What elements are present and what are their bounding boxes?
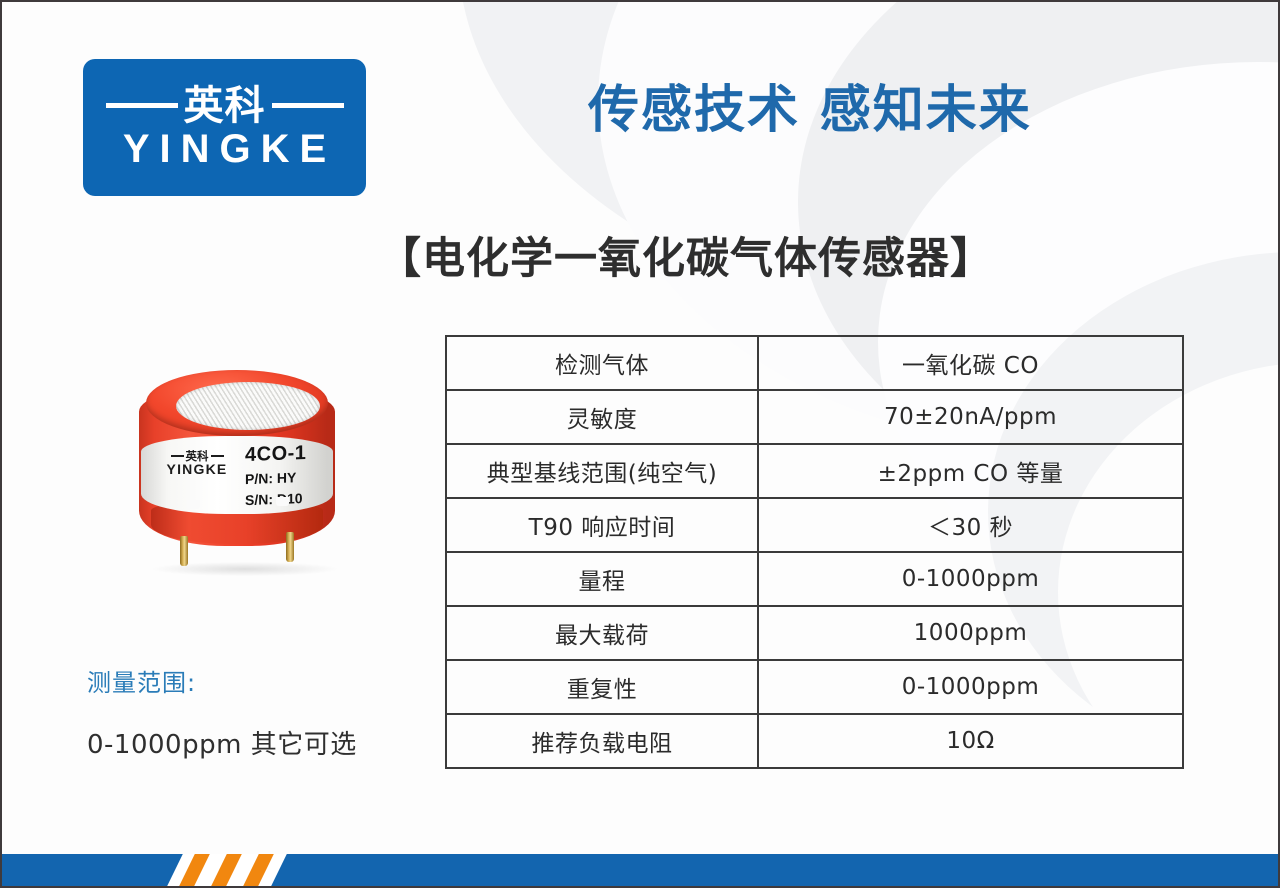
logo-chinese-row: 英科 xyxy=(83,86,366,126)
logo-dash-right xyxy=(272,103,344,108)
spec-param: 典型基线范围(纯空气) xyxy=(446,444,758,498)
spec-value: 70±20nA/ppm xyxy=(758,390,1183,444)
footer-stripe-3 xyxy=(240,854,275,886)
logo-chinese-name: 英科 xyxy=(184,86,266,126)
sensor-label-part-number: P/N: HY xyxy=(245,469,306,487)
logo-dash-left xyxy=(106,103,178,108)
footer-stripe-2 xyxy=(208,854,243,886)
sensor-base-notch-2 xyxy=(276,497,289,506)
measurement-range-label: 测量范围: xyxy=(87,663,427,698)
table-row: T90 响应时间 ＜30 秒 xyxy=(446,498,1183,552)
spec-value: 0-1000ppm xyxy=(758,660,1183,714)
table-row: 典型基线范围(纯空气) ±2ppm CO 等量 xyxy=(446,444,1183,498)
table-row: 最大载荷 1000ppm xyxy=(446,606,1183,660)
footer-bar xyxy=(2,854,1278,886)
measurement-range-block: 测量范围: 0-1000ppm 其它可选 xyxy=(87,663,427,761)
logo-english-name: YINGKE xyxy=(113,128,336,170)
table-row: 推荐负载电阻 10Ω xyxy=(446,714,1183,768)
sensor-label-brand-en: YINGKE xyxy=(154,462,240,477)
sensor-label-band: 英科 YINGKE 4CO-1 P/N: HY S/N: D10 xyxy=(141,436,333,514)
spec-param: 灵敏度 xyxy=(446,390,758,444)
sensor-label-dash-left xyxy=(171,455,184,457)
product-title: 【电化学一氧化碳气体传感器】 xyxy=(2,224,1278,286)
table-row: 检测气体 一氧化碳 CO xyxy=(446,336,1183,390)
spec-value: ＜30 秒 xyxy=(758,498,1183,552)
sensor-product-image: 英科 YINGKE 4CO-1 P/N: HY S/N: D10 xyxy=(127,354,357,614)
sensor-label-dash-right xyxy=(211,455,224,457)
spec-value: 10Ω xyxy=(758,714,1183,768)
slide-canvas: 英科 YINGKE 传感技术 感知未来 【电化学一氧化碳气体传感器】 英科 YI… xyxy=(0,0,1280,888)
sensor-label-model: 4CO-1 xyxy=(245,442,306,467)
specification-table-body: 检测气体 一氧化碳 CO 灵敏度 70±20nA/ppm 典型基线范围(纯空气)… xyxy=(446,336,1183,768)
spec-param: 检测气体 xyxy=(446,336,758,390)
brand-tagline: 传感技术 感知未来 xyxy=(588,68,1032,142)
spec-value: 0-1000ppm xyxy=(758,552,1183,606)
table-row: 灵敏度 70±20nA/ppm xyxy=(446,390,1183,444)
spec-value: 一氧化碳 CO xyxy=(758,336,1183,390)
table-row: 量程 0-1000ppm xyxy=(446,552,1183,606)
spec-value: ±2ppm CO 等量 xyxy=(758,444,1183,498)
spec-param: 重复性 xyxy=(446,660,758,714)
specification-table: 检测气体 一氧化碳 CO 灵敏度 70±20nA/ppm 典型基线范围(纯空气)… xyxy=(445,335,1184,769)
spec-param: 最大载荷 xyxy=(446,606,758,660)
measurement-range-value: 0-1000ppm 其它可选 xyxy=(87,724,427,761)
sensor-label-brand: 英科 YINGKE xyxy=(154,450,240,478)
spec-param: 推荐负载电阻 xyxy=(446,714,758,768)
footer-stripe-accent xyxy=(167,854,287,886)
sensor-top-rim xyxy=(146,370,328,436)
footer-stripe-1 xyxy=(176,854,211,886)
company-logo: 英科 YINGKE xyxy=(83,59,366,196)
sensor-drop-shadow xyxy=(153,562,337,576)
sensor-base-notch-1 xyxy=(187,500,200,509)
spec-param: 量程 xyxy=(446,552,758,606)
sensor-body: 英科 YINGKE 4CO-1 P/N: HY S/N: D10 xyxy=(135,364,340,549)
spec-param: T90 响应时间 xyxy=(446,498,758,552)
spec-value: 1000ppm xyxy=(758,606,1183,660)
sensor-pin-2 xyxy=(286,532,294,562)
sensor-mesh-filter xyxy=(176,382,320,430)
table-row: 重复性 0-1000ppm xyxy=(446,660,1183,714)
